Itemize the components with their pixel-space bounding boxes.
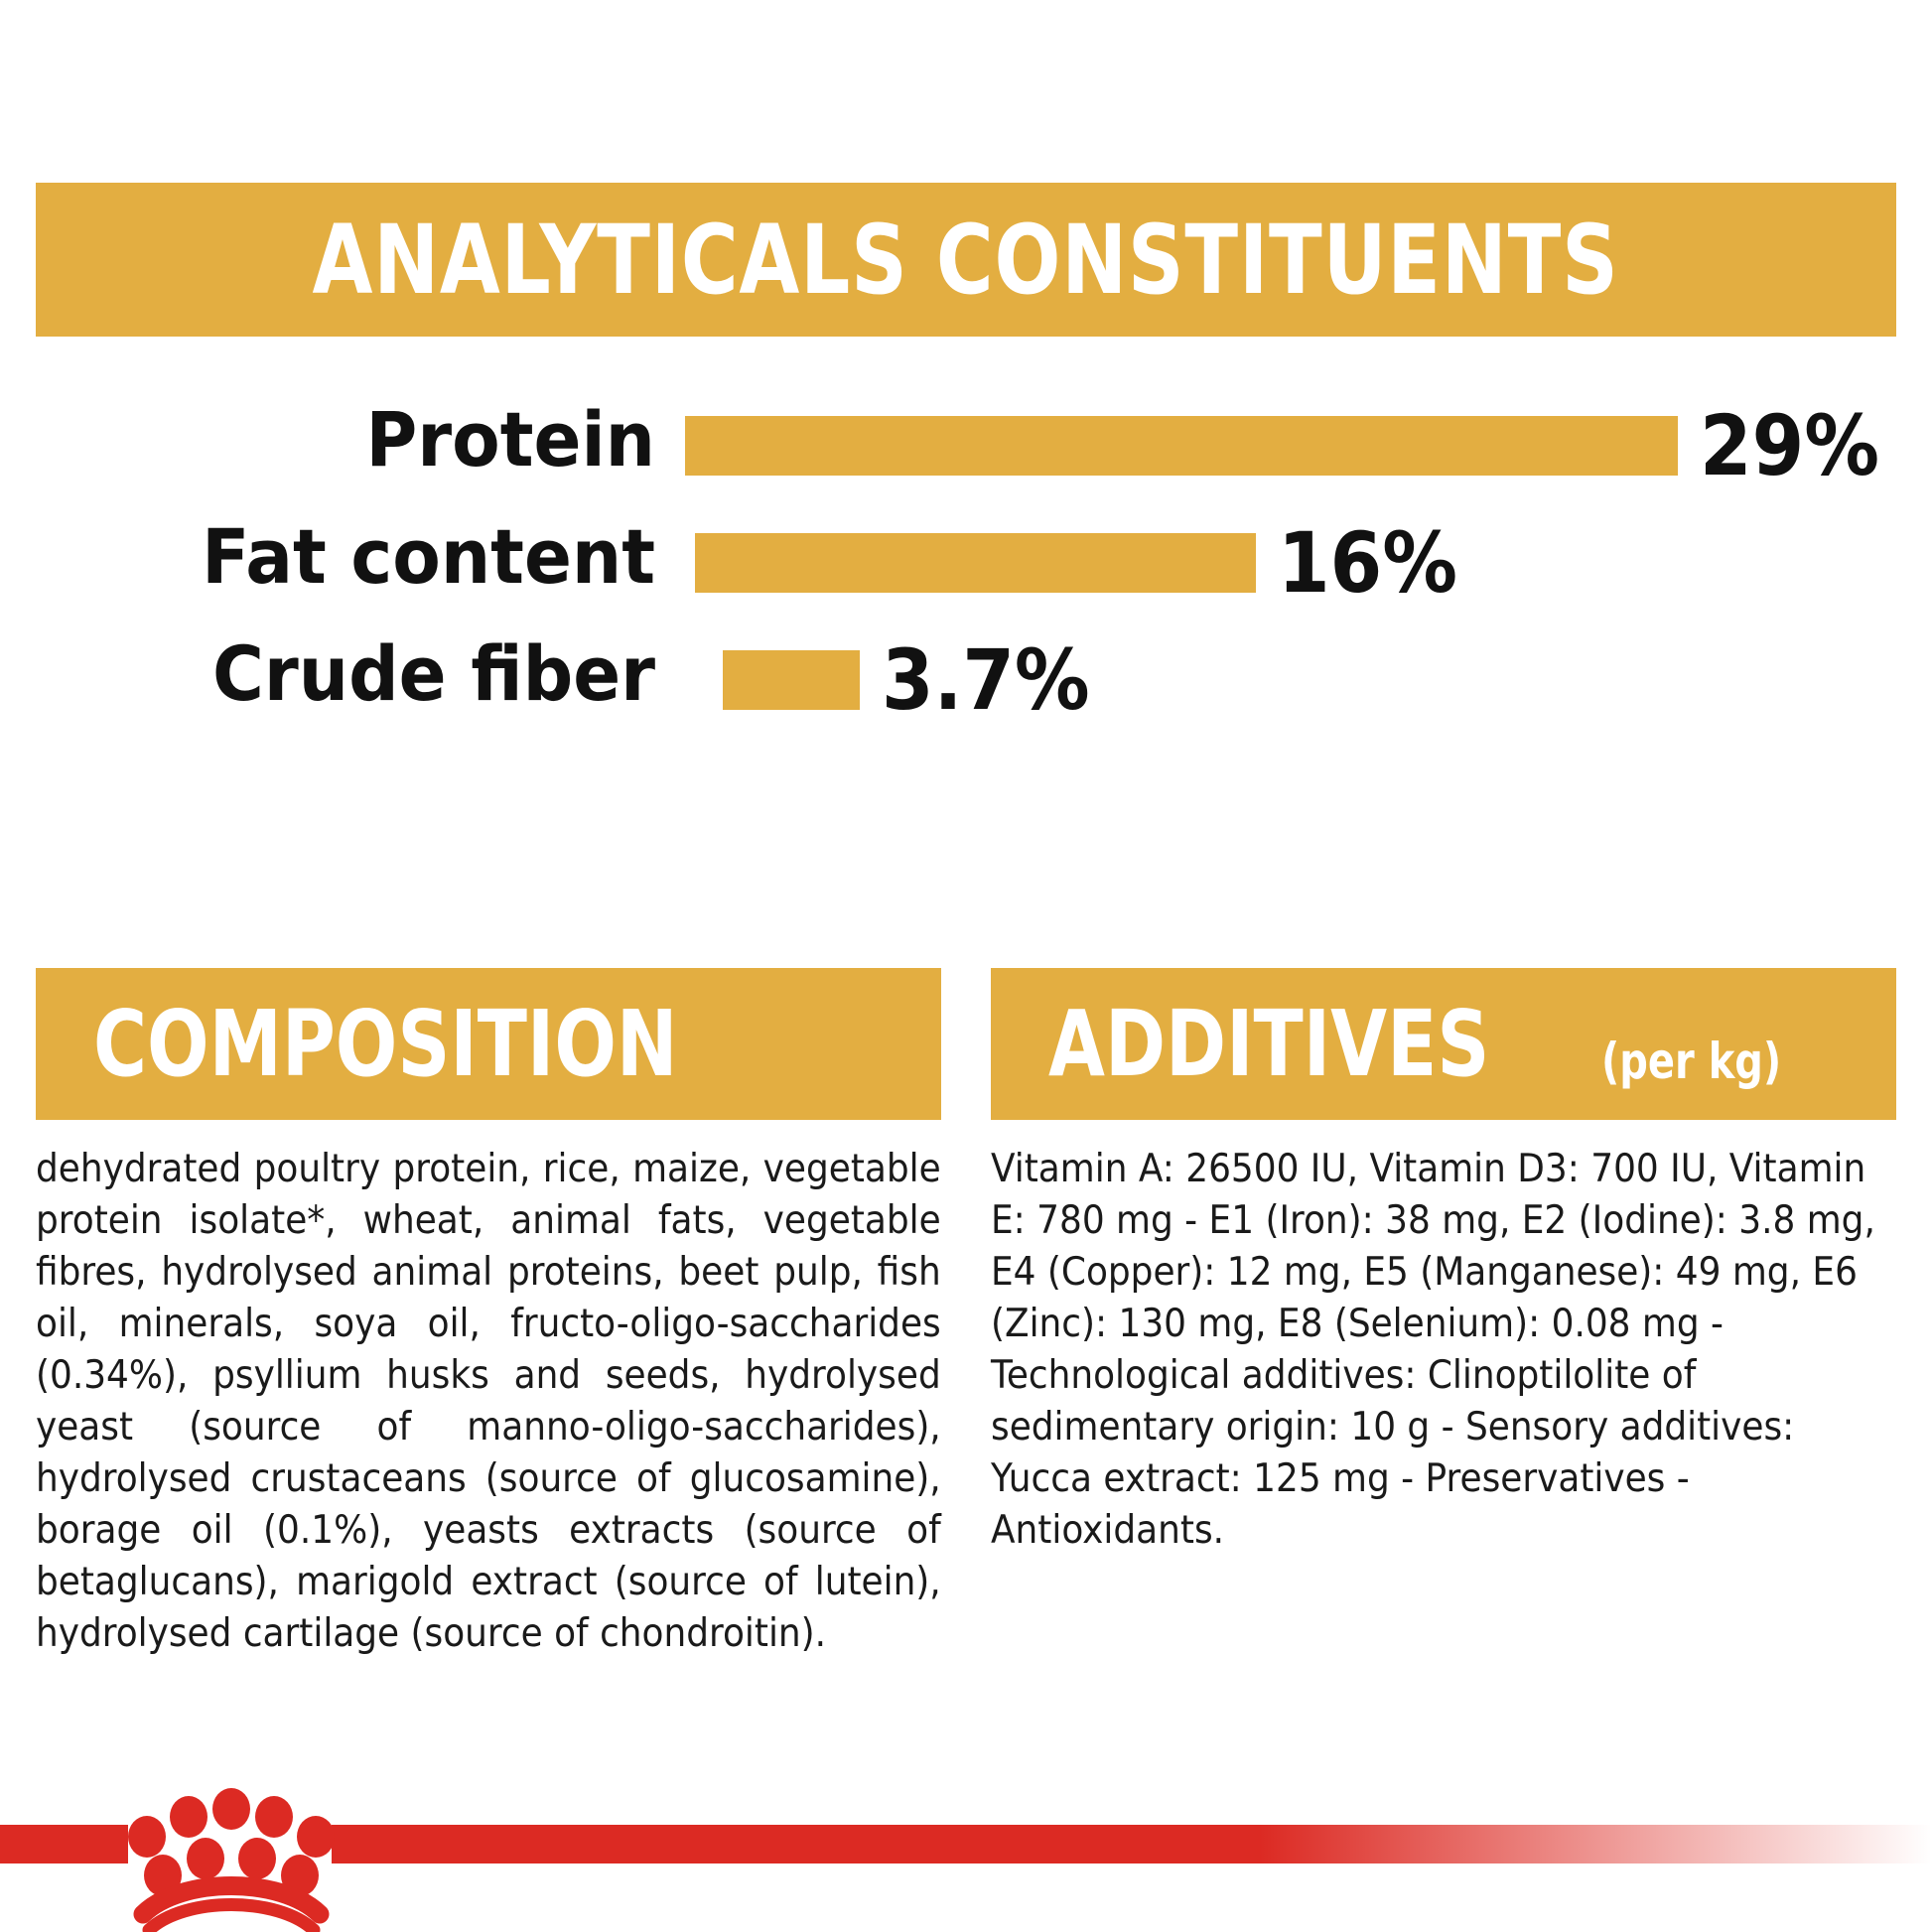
bar-value-crude-fiber: 3.7% xyxy=(882,650,1090,710)
bar-row-fat-content: Fat content 16% xyxy=(0,509,1932,626)
bar-track-protein: 29% xyxy=(685,416,1899,476)
bar-fill-protein xyxy=(685,416,1678,476)
additives-subtitle: (per kg) xyxy=(1601,1036,1781,1086)
bar-fill-fat-content xyxy=(695,533,1256,593)
bar-value-protein: 29% xyxy=(1700,416,1879,476)
composition-body: dehydrated poultry protein, rice, maize,… xyxy=(36,1120,941,1660)
bar-fill-crude-fiber xyxy=(723,650,860,710)
additives-header: ADDITIVES (per kg) xyxy=(991,968,1896,1120)
bar-label-protein: Protein xyxy=(9,392,655,487)
bar-label-fat-content: Fat content xyxy=(9,509,655,605)
additives-body: Vitamin A: 26500 IU, Vitamin D3: 700 IU,… xyxy=(991,1120,1896,1557)
additives-title: ADDITIVES xyxy=(1048,999,1489,1090)
composition-header: COMPOSITION xyxy=(36,968,941,1120)
composition-title: COMPOSITION xyxy=(93,999,677,1090)
royal-canin-crown-logo xyxy=(127,1777,336,1932)
analyticals-bar-chart: Protein 29% Fat content 16% Crude fiber … xyxy=(0,392,1932,744)
footer xyxy=(0,1825,1932,1932)
bar-track-crude-fiber: 3.7% xyxy=(723,650,1113,710)
additives-section: ADDITIVES (per kg) Vitamin A: 26500 IU, … xyxy=(991,968,1896,1660)
footer-rule-right xyxy=(332,1825,1932,1863)
composition-section: COMPOSITION dehydrated poultry protein, … xyxy=(36,968,941,1660)
analyticals-constituents-title: ANALYTICALS CONSTITUENTS xyxy=(313,212,1619,308)
bar-track-fat-content: 16% xyxy=(695,533,1477,593)
analyticals-constituents-header: ANALYTICALS CONSTITUENTS xyxy=(36,183,1896,337)
footer-rule-left xyxy=(0,1825,128,1863)
bar-label-crude-fiber: Crude fiber xyxy=(9,626,655,722)
info-sections: COMPOSITION dehydrated poultry protein, … xyxy=(36,968,1896,1660)
bar-row-protein: Protein 29% xyxy=(0,392,1932,509)
bar-row-crude-fiber: Crude fiber 3.7% xyxy=(0,626,1932,744)
bar-value-fat-content: 16% xyxy=(1278,533,1457,593)
